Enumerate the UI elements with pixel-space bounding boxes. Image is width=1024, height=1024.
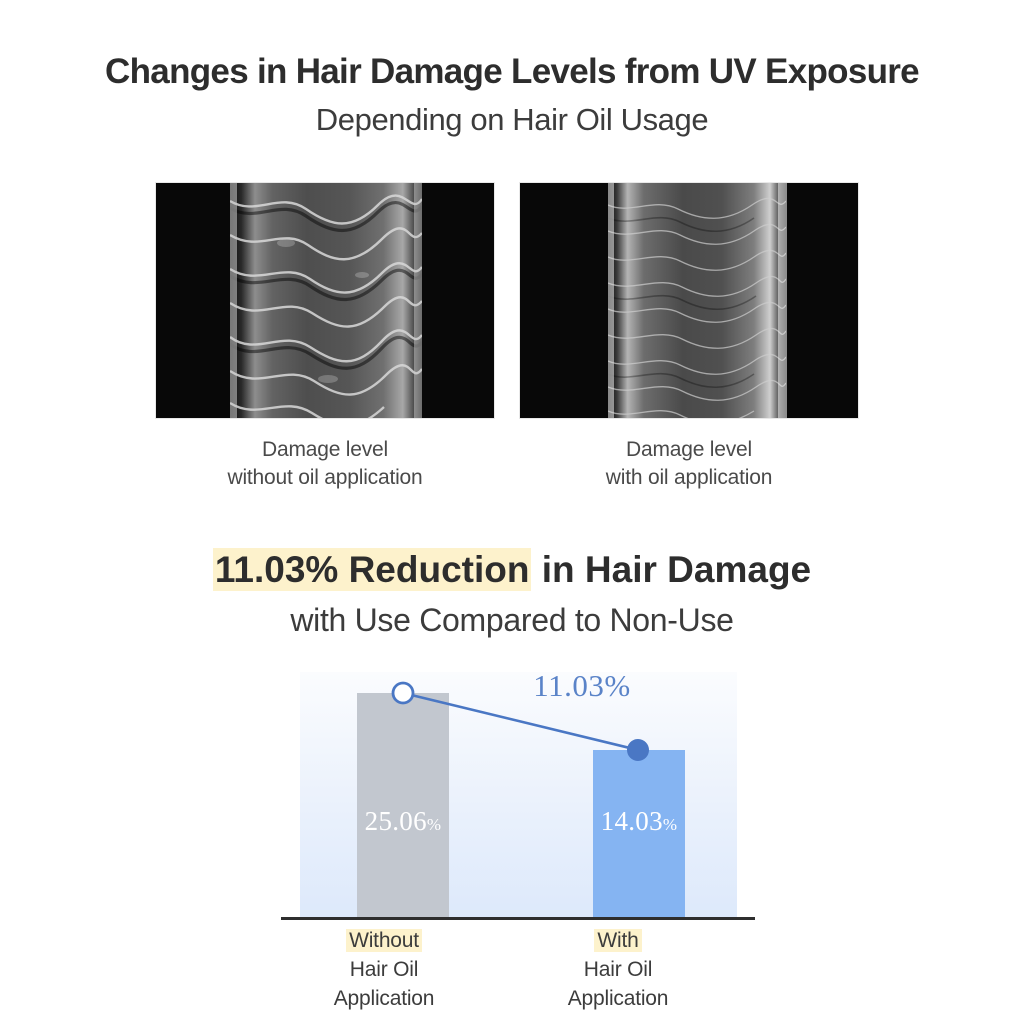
axis-label-without: Without Hair Oil Application [303,927,465,1014]
sem-image-without-oil [156,183,494,418]
chart-x-axis [281,917,755,920]
result-headline: 11.03% Reduction in Hair Damage with Use… [0,548,1024,639]
chart-plot-panel: 25.06% 14.03% [300,672,737,918]
caption-line-1: Damage level [626,438,752,461]
delta-annotation: 11.03% [512,668,652,704]
sem-caption-with-oil: Damage level with oil application [520,436,858,493]
page-header: Changes in Hair Damage Levels from UV Ex… [0,52,1024,138]
result-line-1: 11.03% Reduction in Hair Damage [0,548,1024,592]
bar-value-without: 25.06% [357,806,449,837]
sem-figure-with-oil: Damage level with oil application [520,183,858,493]
bar-value-with: 14.03% [593,806,685,837]
axis-label-with: With Hair Oil Application [537,927,699,1014]
sem-caption-without-oil: Damage level without oil application [156,436,494,493]
caption-line-1: Damage level [262,438,388,461]
axis-label-without-sub: Hair Oil Application [303,956,465,1014]
hair-shaft-damaged-illustration [156,183,494,418]
page-title: Changes in Hair Damage Levels from UV Ex… [0,52,1024,93]
bar-with-hair-oil[interactable]: 14.03% [593,750,685,918]
page-subtitle: Depending on Hair Oil Usage [0,102,1024,138]
result-line-1-rest: in Hair Damage [531,549,811,590]
hair-shaft-healthy-illustration [520,183,858,418]
axis-label-without-highlight: Without [346,929,422,952]
axis-label-with-sub: Hair Oil Application [537,956,699,1014]
bar-without-hair-oil[interactable]: 25.06% [357,693,449,918]
comparison-bar-chart: 25.06% 14.03% 11.03% Without Hair Oil Ap… [281,665,761,1005]
axis-label-with-highlight: With [594,929,641,952]
result-line-2: with Use Compared to Non-Use [0,602,1024,640]
caption-line-2: with oil application [606,466,772,489]
sem-image-with-oil [520,183,858,418]
sem-figure-without-oil: Damage level without oil application [156,183,494,493]
result-highlight: 11.03% Reduction [213,548,532,591]
caption-line-2: without oil application [227,466,422,489]
